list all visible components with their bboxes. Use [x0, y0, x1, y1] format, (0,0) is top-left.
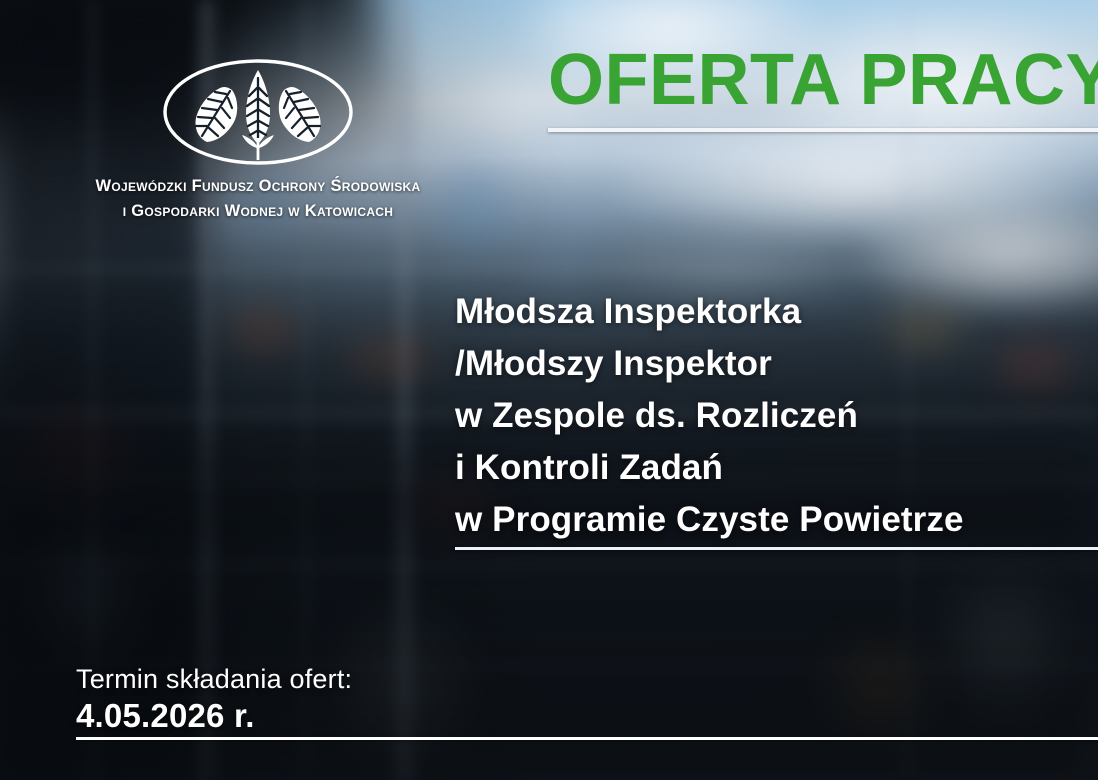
- job-offer-poster: Wojewódzki Fundusz Ochrony Środowiska i …: [0, 0, 1098, 780]
- organization-logo: Wojewódzki Fundusz Ochrony Środowiska i …: [62, 56, 454, 224]
- kicker-underline-rule: [548, 128, 1098, 132]
- job-title-line: Młodsza Inspektorka: [455, 286, 1098, 338]
- deadline-underline-rule: [76, 737, 1098, 740]
- job-title-line: /Młodszy Inspektor: [455, 338, 1098, 390]
- job-title-underline-rule: [455, 547, 1098, 550]
- three-leaf-oval-emblem-icon: [160, 56, 356, 168]
- job-title-line: w Zespole ds. Rozliczeń: [455, 390, 1098, 442]
- deadline-block: Termin składania ofert: 4.05.2026 r.: [76, 662, 352, 736]
- job-title-block: Młodsza Inspektorka /Młodszy Inspektor w…: [455, 286, 1098, 546]
- organization-name-line-2: i Gospodarki Wodnej w Katowicach: [62, 200, 454, 224]
- poster-kicker: OFERTA PRACY: [538, 44, 1098, 116]
- job-title-line: w Programie Czyste Powietrze: [455, 494, 1098, 546]
- deadline-label: Termin składania ofert:: [76, 662, 352, 696]
- deadline-date: 4.05.2026 r.: [76, 696, 352, 736]
- job-title-line: i Kontroli Zadań: [455, 442, 1098, 494]
- poster-kicker-block: OFERTA PRACY: [538, 44, 1098, 116]
- organization-name-line-1: Wojewódzki Fundusz Ochrony Środowiska: [62, 175, 454, 199]
